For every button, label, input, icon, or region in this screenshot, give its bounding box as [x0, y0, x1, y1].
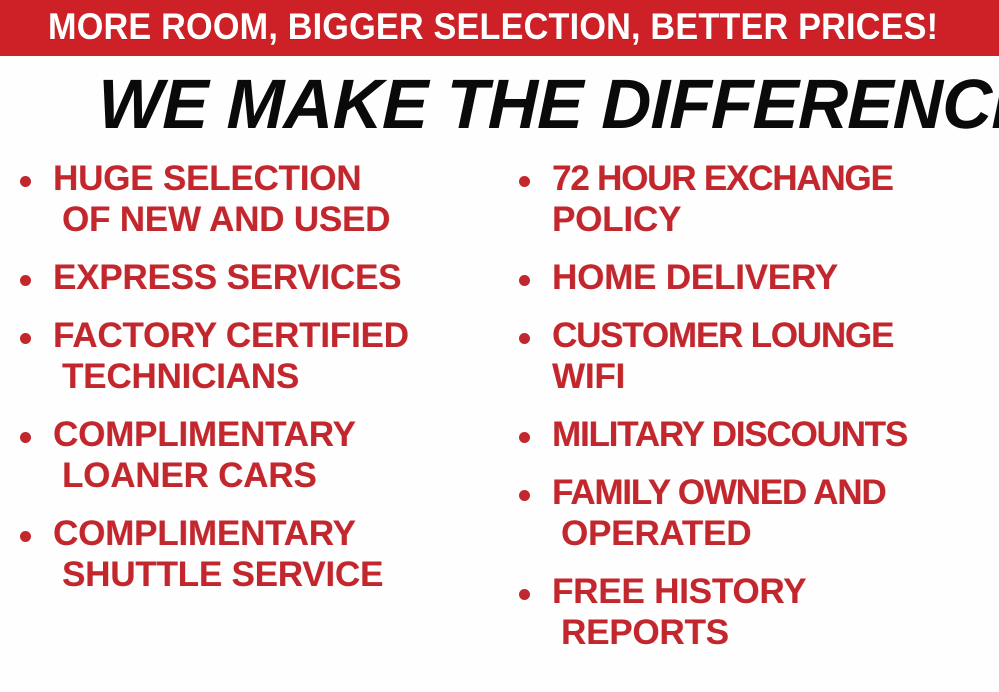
list-item: COMPLIMENTARY SHUTTLE SERVICE	[10, 513, 510, 595]
list-item-line: WIFI	[552, 356, 999, 397]
promo-poster: MORE ROOM, BIGGER SELECTION, BETTER PRIC…	[0, 0, 999, 692]
list-item: COMPLIMENTARY LOANER CARS	[10, 414, 510, 496]
list-item: MILITARY DISCOUNTS	[509, 414, 999, 455]
list-item-label: COMPLIMENTARY LOANER CARS	[53, 414, 510, 496]
list-item-label: HUGE SELECTION OF NEW AND USED	[53, 158, 510, 240]
list-item-line: CUSTOMER LOUNGE	[552, 315, 999, 356]
bullet-dot-icon	[20, 432, 31, 443]
bullet-dot-icon	[519, 589, 530, 600]
list-item: CUSTOMER LOUNGE WIFI	[509, 315, 999, 397]
list-item-line: MILITARY DISCOUNTS	[552, 414, 999, 455]
list-item: HOME DELIVERY	[509, 257, 999, 298]
list-item-line: FAMILY OWNED AND	[552, 472, 999, 513]
list-item-label: CUSTOMER LOUNGE WIFI	[552, 315, 999, 397]
list-item: FAMILY OWNED AND OPERATED	[509, 472, 999, 554]
list-item-line: HOME DELIVERY	[552, 257, 999, 298]
list-item-line: COMPLIMENTARY	[53, 513, 510, 554]
bullet-dot-icon	[20, 275, 31, 286]
list-item: HUGE SELECTION OF NEW AND USED	[10, 158, 510, 240]
list-item-label: FACTORY CERTIFIED TECHNICIANS	[53, 315, 510, 397]
list-item-line: SHUTTLE SERVICE	[53, 554, 510, 595]
list-item-line: REPORTS	[552, 612, 999, 653]
bullet-dot-icon	[519, 490, 530, 501]
page-title: WE MAKE THE DIFFERENCE	[97, 68, 906, 140]
list-item: FACTORY CERTIFIED TECHNICIANS	[10, 315, 510, 397]
feature-list-right: 72 HOUR EXCHANGE POLICY HOME DELIVERY CU…	[509, 158, 999, 692]
top-banner: MORE ROOM, BIGGER SELECTION, BETTER PRIC…	[0, 0, 999, 56]
bullet-dot-icon	[20, 531, 31, 542]
list-item-line: OPERATED	[552, 513, 999, 554]
list-item-line: COMPLIMENTARY	[53, 414, 510, 455]
bullet-dot-icon	[20, 176, 31, 187]
bullet-dot-icon	[519, 275, 530, 286]
list-item-line: FACTORY CERTIFIED	[53, 315, 510, 356]
list-item: 72 HOUR EXCHANGE POLICY	[509, 158, 999, 240]
list-item-label: FREE HISTORY REPORTS	[552, 571, 999, 653]
banner-headline: MORE ROOM, BIGGER SELECTION, BETTER PRIC…	[48, 7, 888, 47]
bullet-dot-icon	[20, 333, 31, 344]
feature-columns: HUGE SELECTION OF NEW AND USED EXPRESS S…	[0, 158, 999, 692]
list-item-line: OF NEW AND USED	[53, 199, 510, 240]
list-item: EXPRESS SERVICES	[10, 257, 510, 298]
feature-list-left: HUGE SELECTION OF NEW AND USED EXPRESS S…	[10, 158, 510, 692]
list-item-line: 72 HOUR EXCHANGE	[552, 158, 999, 199]
list-item-label: MILITARY DISCOUNTS	[552, 414, 999, 455]
list-item-label: FAMILY OWNED AND OPERATED	[552, 472, 999, 554]
list-item-label: EXPRESS SERVICES	[53, 257, 510, 298]
bullet-dot-icon	[519, 176, 530, 187]
list-item-line: HUGE SELECTION	[53, 158, 510, 199]
bullet-dot-icon	[519, 432, 530, 443]
list-item-label: HOME DELIVERY	[552, 257, 999, 298]
list-item-line: LOANER CARS	[53, 455, 510, 496]
list-item-line: TECHNICIANS	[53, 356, 510, 397]
list-item-line: FREE HISTORY	[552, 571, 999, 612]
list-item-line: POLICY	[552, 199, 999, 240]
bullet-dot-icon	[519, 333, 530, 344]
list-item-label: 72 HOUR EXCHANGE POLICY	[552, 158, 999, 240]
list-item: FREE HISTORY REPORTS	[509, 571, 999, 653]
list-item-label: COMPLIMENTARY SHUTTLE SERVICE	[53, 513, 510, 595]
list-item-line: EXPRESS SERVICES	[53, 257, 510, 298]
